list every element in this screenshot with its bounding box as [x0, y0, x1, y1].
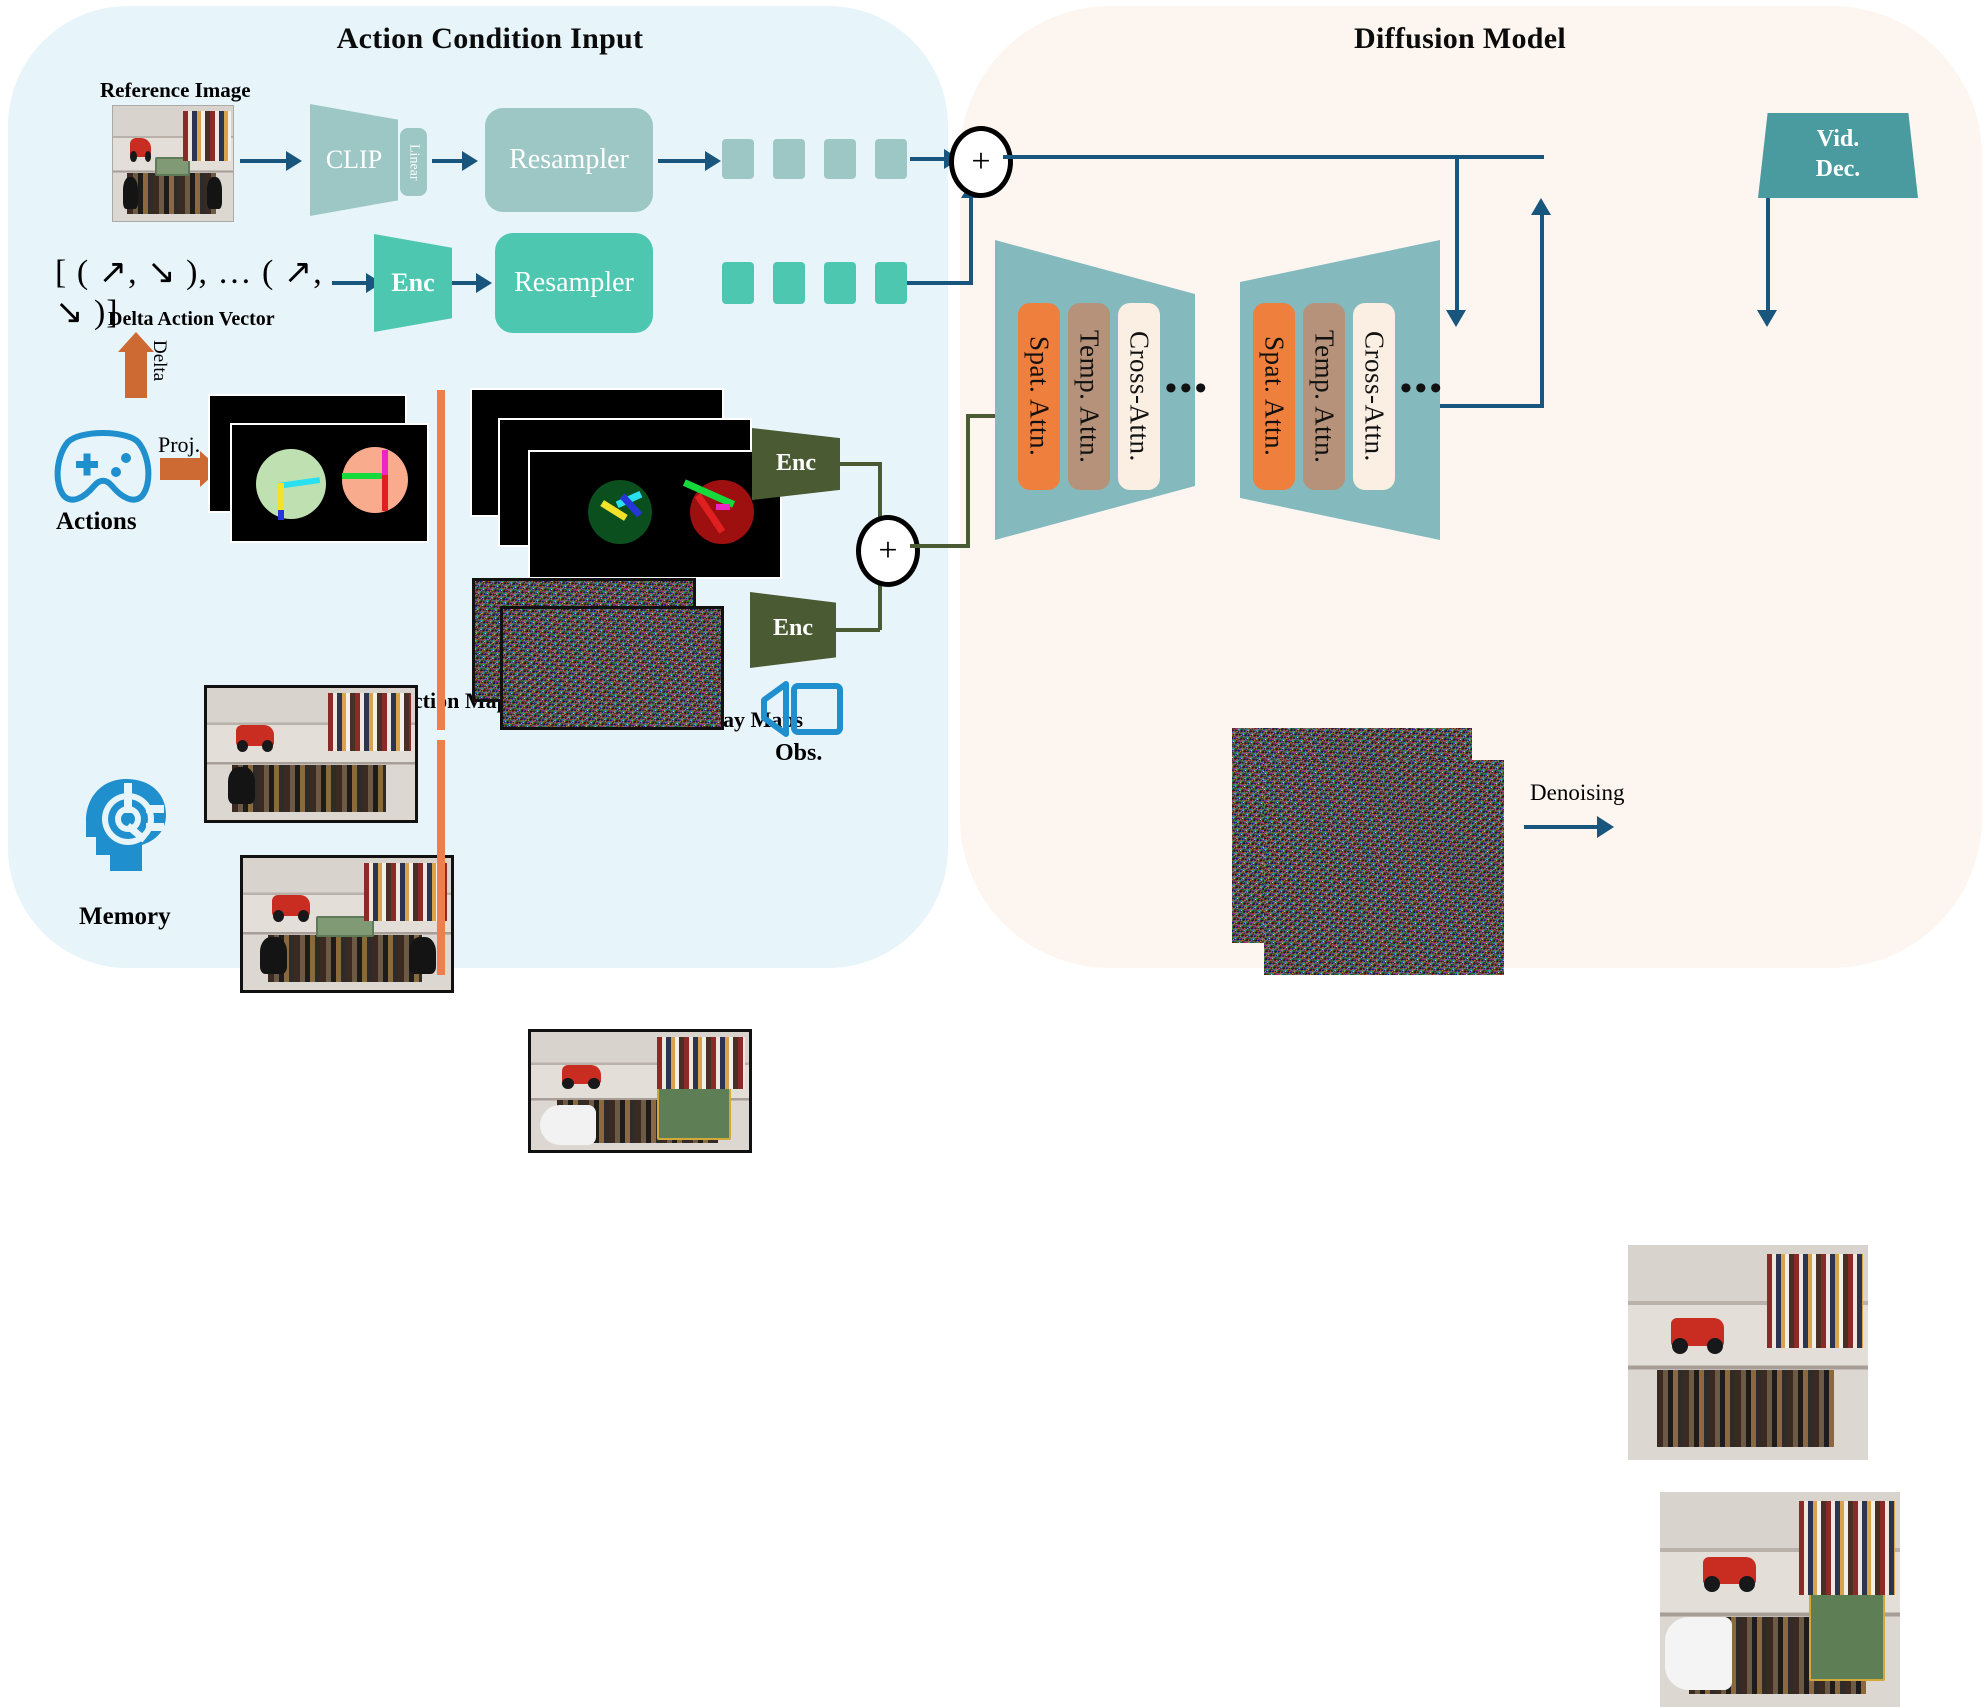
arrowhead-enc-to-resampler-action — [476, 273, 492, 293]
ray-map-magenta-ray — [716, 504, 730, 510]
obs-label: Obs. — [775, 740, 822, 767]
temporal-attention-2[interactable]: Temp. Attn. — [1303, 303, 1345, 490]
proj-label: Proj. — [158, 432, 200, 458]
obs-encoder-label: Enc — [750, 615, 836, 642]
image-token-4 — [875, 139, 907, 179]
resampler-action-block[interactable]: Resampler — [495, 233, 653, 333]
obs-car — [562, 1065, 601, 1084]
arrow-linear-to-resampler — [432, 159, 464, 163]
arrow-sum-to-unet-h1 — [910, 544, 970, 548]
divider-action-maps — [437, 390, 445, 730]
arrow-image-tokens-to-sum — [910, 157, 948, 161]
spatial-attention-1-label: Spat. Attn. — [1024, 336, 1055, 456]
sum-node-tokens: + — [949, 126, 1013, 198]
memory-car-front — [272, 895, 309, 916]
gripper-right — [207, 177, 223, 209]
arrow-unet-out-h — [1440, 404, 1544, 408]
temporal-attention-1[interactable]: Temp. Attn. — [1068, 303, 1110, 490]
arrowhead-resampler-to-image-tokens — [705, 151, 721, 171]
arrowhead-to-vid-dec — [1531, 198, 1551, 215]
action-encoder-label: Enc — [374, 268, 452, 298]
video-decoder-label-line1: Vid. — [1758, 124, 1918, 154]
temporal-attention-1-label: Temp. Attn. — [1074, 330, 1105, 463]
green-book — [155, 157, 190, 176]
sum-node-conditions-symbol: + — [878, 532, 897, 570]
arrow-sum-to-unet-v — [966, 414, 970, 546]
arrow-obsenc-h — [836, 628, 880, 632]
obs-frame-front — [528, 1029, 752, 1153]
linear-label: Linear — [406, 144, 422, 181]
action-token-1 — [722, 262, 754, 304]
gripper-left — [123, 177, 139, 209]
arrowhead-linear-to-resampler — [462, 151, 478, 171]
memory-frame-back — [204, 685, 418, 823]
toy-car — [130, 138, 152, 156]
cross-attention-2[interactable]: Cross-Attn. — [1353, 303, 1395, 490]
temporal-attention-2-label: Temp. Attn. — [1309, 330, 1340, 463]
camera-icon — [760, 680, 844, 738]
arrowhead-crossattn-2 — [1757, 310, 1777, 327]
memory-head-icon — [80, 775, 172, 875]
unet-block-2-ellipsis: ••• — [1400, 370, 1445, 408]
crossattn-bus-line — [1003, 155, 1544, 159]
linear-block[interactable]: Linear — [400, 128, 427, 196]
action-map-frame-front — [230, 423, 429, 543]
arrow-action-tokens-v — [969, 196, 973, 283]
video-decoder-label: Vid. Dec. — [1758, 124, 1918, 184]
arrow-enc-to-resampler-action — [452, 281, 478, 285]
action-map-blue-stick — [278, 510, 284, 520]
delta-action-vector-label: Delta Action Vector — [108, 308, 275, 331]
action-token-4 — [875, 262, 907, 304]
image-token-2 — [773, 139, 805, 179]
delta-arrow-label-text: Delta — [148, 340, 170, 381]
arrow-unet-out-v — [1540, 214, 1544, 406]
spatial-attention-1[interactable]: Spat. Attn. — [1018, 303, 1060, 490]
denoise-out-car-front — [1703, 1557, 1756, 1585]
arrow-rayenc-h — [840, 462, 882, 466]
panel-title-action-condition: Action Condition Input — [190, 22, 790, 56]
arrowhead-ref-to-clip — [286, 151, 302, 171]
action-map-red-stick — [382, 475, 388, 511]
obs-noise-frame-mid — [500, 606, 724, 730]
delta-arrow-label: Delta — [148, 340, 170, 387]
denoise-out-robot-arm — [1665, 1617, 1732, 1690]
unet-block-1-ellipsis: ••• — [1165, 370, 1210, 408]
denoise-input-frame-front — [1264, 760, 1504, 975]
memory-label: Memory — [79, 903, 171, 931]
crossattn-drop-1 — [1455, 155, 1459, 313]
panel-title-diffusion-model: Diffusion Model — [1180, 22, 1740, 56]
memory-gripper-right — [409, 937, 436, 974]
arrow-denoising-shaft — [1524, 825, 1600, 829]
proj-arrow-shaft — [160, 458, 202, 480]
arrowhead-crossattn-1 — [1446, 310, 1466, 327]
gamepad-icon — [50, 428, 156, 506]
obs-green-book — [657, 1074, 731, 1139]
spatial-attention-2[interactable]: Spat. Attn. — [1253, 303, 1295, 490]
actions-label: Actions — [56, 508, 137, 536]
image-token-3 — [824, 139, 856, 179]
denoising-label: Denoising — [1530, 780, 1625, 806]
action-token-3 — [824, 262, 856, 304]
ray-map-frame-front — [528, 450, 782, 579]
cross-attention-2-label: Cross-Attn. — [1359, 331, 1390, 462]
action-token-2 — [773, 262, 805, 304]
denoise-output-frame-front — [1660, 1492, 1900, 1707]
memory-frame-front — [240, 855, 454, 993]
memory-gripper-left — [260, 937, 287, 974]
obs-robot-arm — [540, 1105, 597, 1145]
arrow-resampler-to-image-tokens — [658, 159, 708, 163]
resampler-image-label: Resampler — [509, 144, 629, 176]
action-map-green-stick — [342, 473, 386, 479]
cross-attention-1[interactable]: Cross-Attn. — [1118, 303, 1160, 490]
arrow-action-tokens-h — [907, 281, 973, 285]
reference-image-label: Reference Image — [100, 78, 251, 103]
resampler-image-block[interactable]: Resampler — [485, 108, 653, 212]
image-token-1 — [722, 139, 754, 179]
reference-image — [112, 105, 234, 222]
arrow-ref-to-clip — [240, 159, 288, 163]
clip-label: CLIP — [310, 145, 398, 175]
memory-greenbook — [316, 916, 374, 937]
ray-encoder-label: Enc — [752, 450, 840, 477]
sum-node-tokens-symbol: + — [971, 143, 990, 181]
sum-node-conditions: + — [856, 515, 920, 587]
action-map-circle-salmon — [342, 447, 408, 513]
video-decoder-label-line2: Dec. — [1758, 154, 1918, 184]
memory-gripper-back — [228, 767, 255, 804]
memory-car-back — [236, 725, 273, 746]
resampler-action-label: Resampler — [514, 267, 634, 299]
arrow-delta-to-enc — [332, 281, 368, 285]
arrowhead-denoising — [1597, 816, 1614, 838]
spatial-attention-2-label: Spat. Attn. — [1259, 336, 1290, 456]
denoise-out-greenbook — [1809, 1591, 1885, 1681]
divider-obs — [437, 740, 445, 975]
denoise-out-car — [1671, 1318, 1724, 1346]
cross-attention-1-label: Cross-Attn. — [1124, 331, 1155, 462]
delta-arrow-shaft — [125, 350, 147, 398]
denoise-output-frame-back — [1628, 1245, 1868, 1460]
